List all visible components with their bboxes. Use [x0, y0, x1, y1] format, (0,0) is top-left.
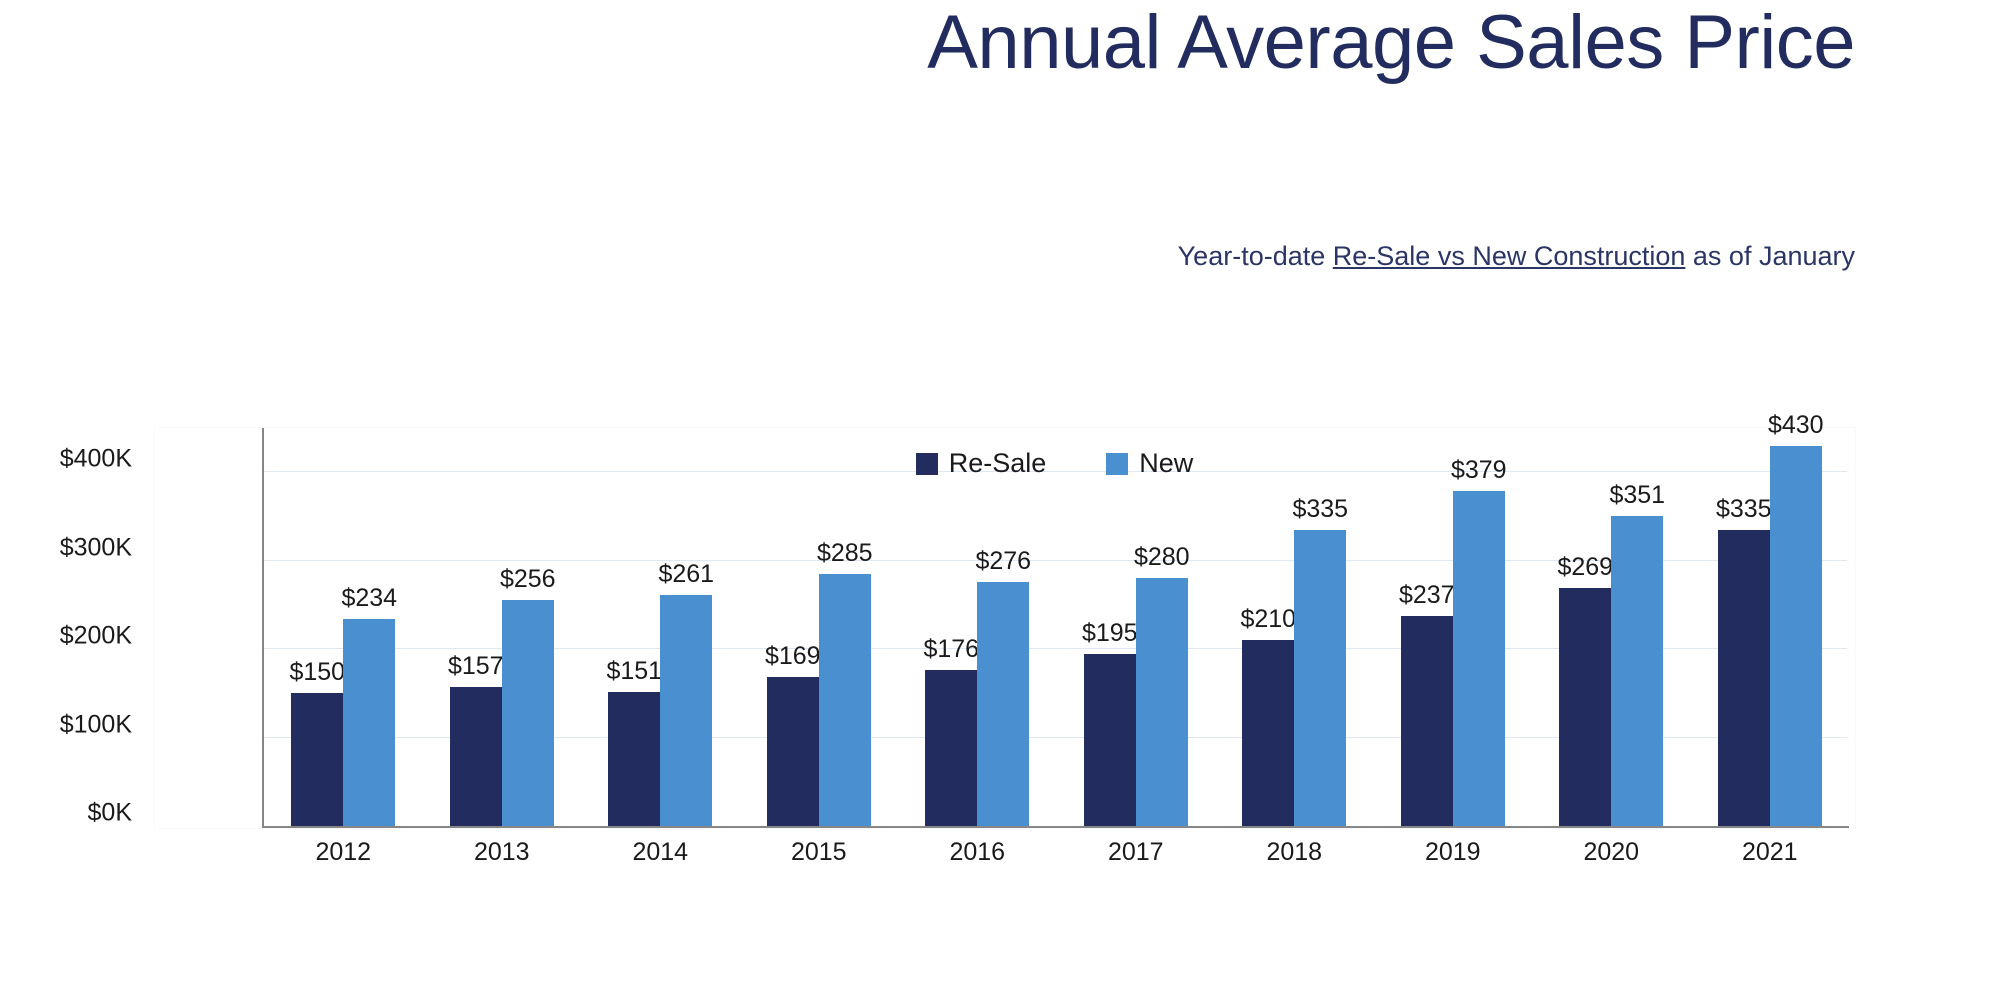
chart-panel: $0K$100K$200K$300K$400K $150$234$157$256… — [155, 428, 1855, 828]
x-axis-tick-label-2018: 2018 — [1266, 840, 1322, 865]
bar-value-label: $157 — [448, 654, 504, 679]
bar-resale-2018[interactable] — [1242, 640, 1294, 826]
bar-value-label: $234 — [341, 586, 397, 611]
bar-value-label: $335 — [1716, 497, 1772, 522]
bar-value-label: $335 — [1292, 497, 1348, 522]
bar-series-container: $150$234$157$256$151$261$169$285$176$276… — [264, 428, 1847, 826]
y-axis-tick-label: $200K — [0, 624, 132, 649]
x-axis-tick-label-2019: 2019 — [1425, 840, 1481, 865]
y-axis-tick-label: $0K — [0, 801, 132, 826]
bar-value-label: $276 — [975, 549, 1031, 574]
x-axis-tick-label-2013: 2013 — [474, 840, 530, 865]
bar-value-label: $210 — [1240, 607, 1296, 632]
x-axis-tick-label-2012: 2012 — [315, 840, 371, 865]
bar-resale-2016[interactable] — [925, 670, 977, 826]
bar-new-2015[interactable] — [819, 574, 871, 826]
bar-new-2020[interactable] — [1611, 516, 1663, 826]
bar-new-2018[interactable] — [1294, 530, 1346, 826]
bar-value-label: $379 — [1451, 458, 1507, 483]
bar-new-2017[interactable] — [1136, 578, 1188, 826]
x-axis-tick-label-2015: 2015 — [791, 840, 847, 865]
bar-new-2012[interactable] — [343, 619, 395, 826]
x-axis-tick-label-2016: 2016 — [949, 840, 1005, 865]
bar-value-label: $430 — [1768, 413, 1824, 438]
bar-new-2019[interactable] — [1453, 491, 1505, 826]
bar-new-2016[interactable] — [977, 582, 1029, 826]
bar-new-2014[interactable] — [660, 595, 712, 826]
bar-resale-2019[interactable] — [1401, 616, 1453, 826]
bar-resale-2013[interactable] — [450, 687, 502, 826]
y-axis-tick-label: $100K — [0, 712, 132, 737]
x-axis-tick-label-2021: 2021 — [1742, 840, 1798, 865]
subtitle-prefix: Year-to-date — [1178, 241, 1333, 271]
x-axis-tick-label-2017: 2017 — [1108, 840, 1164, 865]
bar-value-label: $150 — [289, 660, 345, 685]
x-axis-tick-label-2014: 2014 — [632, 840, 688, 865]
y-axis-tick-label: $400K — [0, 447, 132, 472]
bar-new-2013[interactable] — [502, 600, 554, 826]
bar-value-label: $195 — [1082, 621, 1138, 646]
bar-value-label: $261 — [658, 562, 714, 587]
bar-new-2021[interactable] — [1770, 446, 1822, 826]
bar-value-label: $237 — [1399, 583, 1455, 608]
bar-resale-2020[interactable] — [1559, 588, 1611, 826]
bar-resale-2021[interactable] — [1718, 530, 1770, 826]
bar-value-label: $151 — [606, 659, 662, 684]
bar-resale-2012[interactable] — [291, 693, 343, 826]
y-axis-tick-label: $300K — [0, 535, 132, 560]
bar-value-label: $256 — [500, 567, 556, 592]
x-axis-line — [262, 826, 1849, 828]
bar-resale-2015[interactable] — [767, 677, 819, 826]
bar-value-label: $176 — [923, 637, 979, 662]
bar-value-label: $169 — [765, 644, 821, 669]
plot-area: $0K$100K$200K$300K$400K $150$234$157$256… — [262, 428, 1847, 828]
subtitle-underlined-text: Re-Sale vs New Construction — [1333, 241, 1686, 271]
x-axis-tick-label-2020: 2020 — [1583, 840, 1639, 865]
subtitle-suffix: as of January — [1685, 241, 1855, 271]
bar-value-label: $280 — [1134, 545, 1190, 570]
bar-value-label: $351 — [1609, 483, 1665, 508]
bar-value-label: $285 — [817, 541, 873, 566]
bar-resale-2014[interactable] — [608, 692, 660, 826]
bar-value-label: $269 — [1557, 555, 1613, 580]
page-title: Annual Average Sales Price — [0, 0, 1855, 86]
bar-resale-2017[interactable] — [1084, 654, 1136, 826]
chart-subtitle: Year-to-date Re-Sale vs New Construction… — [0, 240, 1855, 272]
